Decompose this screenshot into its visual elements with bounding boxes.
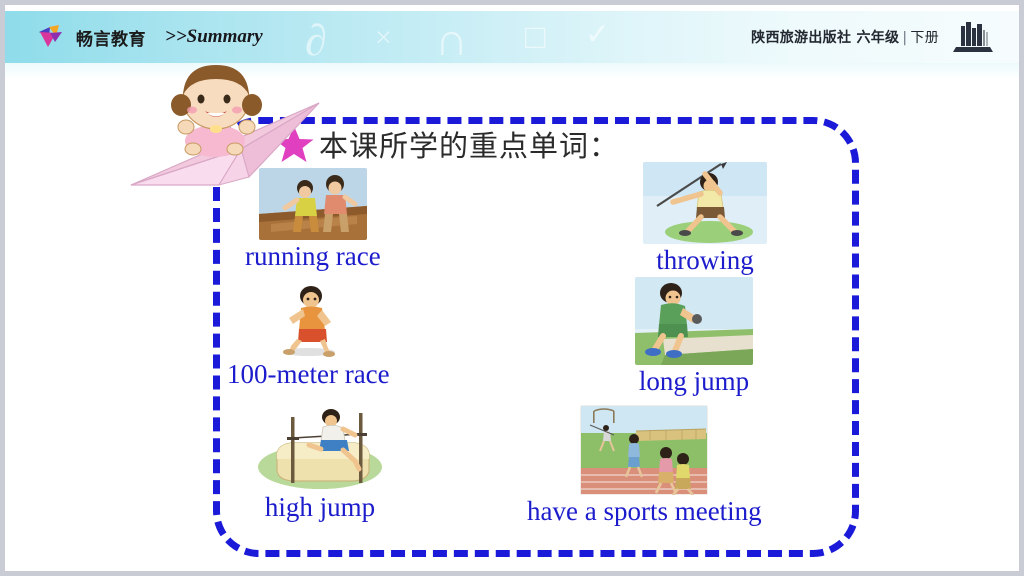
vocab-card-throwing[interactable]: throwing: [643, 162, 767, 276]
vocab-card-sports-meeting[interactable]: have a sports meeting: [527, 405, 762, 527]
publisher-block: 陕西旅游出版社 六年级|下册: [751, 11, 993, 63]
vocab-label-running-race: running race: [245, 242, 381, 272]
doodle-watermark-4: ×: [375, 21, 392, 55]
high-jump-illustration: [255, 401, 385, 491]
vocab-card-long-jump[interactable]: long jump: [635, 277, 753, 397]
doodle-watermark-5: ✓: [585, 17, 610, 52]
girl-on-paper-plane-icon: [123, 57, 335, 197]
throwing-illustration: [643, 162, 767, 244]
publisher-info: 陕西旅游出版社 六年级|下册: [751, 27, 939, 47]
slide-canvas: ∂ ∩ □ × ✓ 畅言教育 >>Summary 陕西旅游出版社 六年级|下册: [0, 0, 1024, 576]
doodle-watermark-2: ∩: [435, 13, 468, 66]
sports-meeting-illustration: [580, 405, 708, 495]
vocab-card-100-meter-race[interactable]: 100-meter race: [227, 282, 390, 390]
books-icon: [953, 20, 993, 54]
slide-content-area: ∂ ∩ □ × ✓ 畅言教育 >>Summary 陕西旅游出版社 六年级|下册: [5, 5, 1019, 571]
slide-header-bar: ∂ ∩ □ × ✓ 畅言教育 >>Summary 陕西旅游出版社 六年级|下册: [5, 11, 1019, 63]
page-title-text: 本课所学的重点单词：: [319, 123, 619, 165]
vocab-label-long-jump: long jump: [639, 367, 749, 397]
vocab-label-sports-meeting: have a sports meeting: [527, 497, 762, 527]
vocab-label-100-meter-race: 100-meter race: [227, 360, 390, 390]
publisher-separator: |: [902, 30, 907, 46]
term-label: 下册: [910, 30, 939, 46]
grade-label: 六年级: [856, 30, 899, 46]
brand-name-label: 畅言教育: [76, 25, 146, 50]
bird-logo-icon: [37, 23, 67, 51]
long-jump-illustration: [635, 277, 753, 365]
vocab-label-high-jump: high jump: [265, 493, 375, 523]
vocab-label-throwing: throwing: [656, 246, 754, 276]
doodle-watermark-3: □: [525, 19, 546, 57]
publisher-name: 陕西旅游出版社: [751, 30, 851, 46]
summary-label: >>Summary: [165, 26, 263, 48]
100-meter-race-illustration: [265, 282, 351, 358]
brand-block: 畅言教育 >>Summary: [37, 11, 263, 63]
vocab-card-high-jump[interactable]: high jump: [255, 401, 385, 523]
